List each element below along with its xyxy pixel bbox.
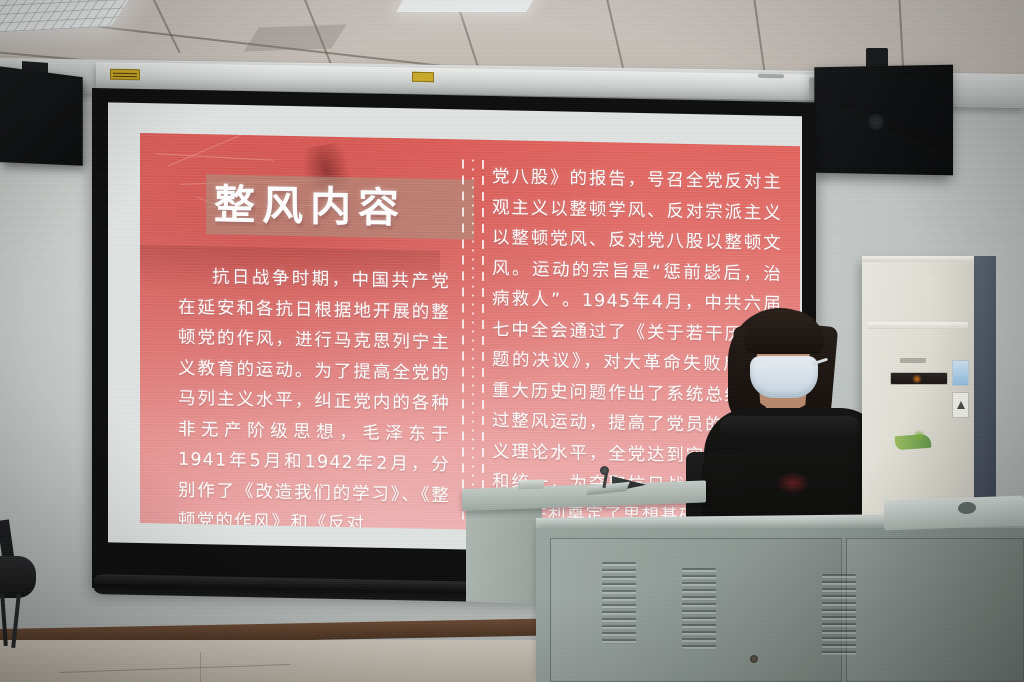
ceiling-vent (244, 24, 347, 51)
speaker-cone-icon (868, 114, 884, 130)
stacking-chair-seat (0, 556, 36, 598)
floor-standing-air-conditioner[interactable] (862, 258, 974, 520)
shirt-logo (776, 472, 810, 494)
energy-label-sticker (952, 360, 969, 386)
slide-column-divider (458, 159, 488, 520)
face-mask (750, 356, 818, 398)
yellow-warning-sticker-2 (412, 72, 434, 82)
yellow-warning-sticker (110, 69, 140, 81)
floor (0, 640, 560, 682)
microphone-icon[interactable] (600, 466, 609, 475)
slide-title: 整风内容 (214, 175, 470, 238)
air-conditioner-outlet-lip (868, 322, 968, 329)
lectern-podium-front (466, 504, 542, 605)
classroom-scene: 整风内容 抗日战争时期，中国共产党在延安和各抗日根据地开展的整顿党的作风，进行马… (0, 0, 1024, 682)
warning-triangle-sticker (952, 392, 969, 418)
podium-small-object[interactable] (518, 480, 544, 490)
cabinet-vent-1 (602, 562, 636, 644)
screen-housing-bracket (758, 74, 784, 78)
cabinet-vent-2 (682, 568, 716, 650)
air-conditioner-brand-mark (900, 358, 926, 363)
person-hair-front (744, 310, 824, 354)
cabinet-vent-3 (822, 574, 856, 656)
person-shoulder-highlight (720, 416, 860, 438)
air-conditioner-top-trim (862, 256, 974, 262)
air-conditioner-display[interactable] (890, 372, 948, 385)
wall-speaker-right (814, 65, 953, 176)
floor-tile-seam-vertical (200, 652, 201, 682)
cabinet-door-right[interactable] (846, 538, 1024, 682)
ceiling-light-panel-far (396, 0, 538, 12)
cabinet-lock[interactable] (750, 655, 758, 663)
slide-text-left-column: 抗日战争时期，中国共产党在延安和各抗日根据地开展的整顿党的作风，进行马克思列宁主… (178, 262, 450, 536)
cabinet-side-tray (884, 496, 1024, 531)
wall-speaker-left (0, 66, 83, 165)
decorative-leaf-sticker-2 (912, 430, 926, 442)
